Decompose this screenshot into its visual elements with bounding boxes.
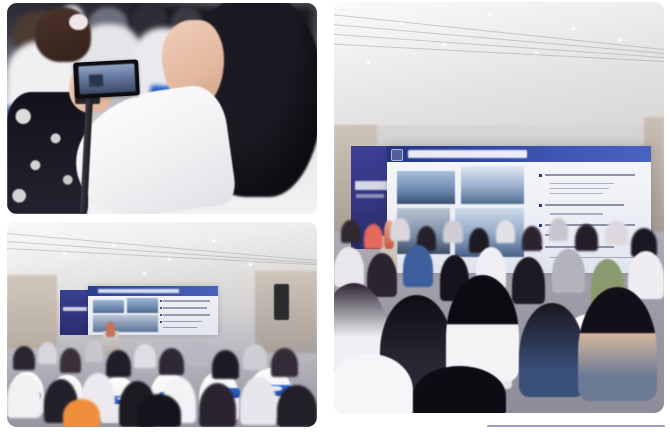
ceiling-downlight (572, 27, 575, 30)
photo-collage (0, 0, 670, 439)
attendee (341, 220, 361, 244)
attendee (240, 377, 277, 425)
hair-scrunchie (69, 14, 88, 31)
attendee (137, 394, 180, 427)
slide-photo (93, 315, 158, 332)
attendee (605, 220, 628, 246)
attendee (496, 220, 516, 244)
hall-wide-scene (7, 222, 317, 427)
photo-hall-wide[interactable] (7, 222, 317, 427)
photo-hall-crowd[interactable] (334, 2, 664, 413)
attendee (390, 218, 410, 242)
slide-bullet-marker (160, 307, 162, 309)
patterned-dress (7, 92, 88, 214)
attendee (522, 226, 542, 252)
slide-bullet-marker (539, 204, 542, 207)
attendee (552, 249, 585, 292)
attendee (403, 245, 433, 286)
ceiling (334, 2, 664, 125)
slide-bullet-marker (160, 314, 162, 316)
attendee (212, 350, 240, 380)
attendee (549, 218, 569, 242)
attendee (134, 344, 156, 368)
attendee (63, 399, 100, 427)
attendee (364, 224, 384, 250)
attendee (60, 348, 82, 374)
slide-photo (461, 166, 524, 204)
slide-bullet-marker (539, 174, 542, 177)
slide-text-line (163, 300, 210, 302)
ceiling-downlight (143, 272, 146, 275)
slide-title-bar (88, 286, 218, 297)
slide-text-line (163, 327, 197, 329)
loudspeaker (274, 284, 290, 321)
ceiling-downlight (63, 252, 66, 255)
ceiling-downlight (367, 61, 370, 64)
slide-text-line (163, 321, 202, 323)
ceiling-downlight (443, 43, 446, 46)
attendee (277, 385, 317, 427)
slide-number-badge (391, 149, 404, 162)
slide-photo (93, 300, 124, 313)
slide-text-line (550, 193, 603, 194)
attendee (519, 303, 585, 398)
slide-photo (397, 171, 455, 204)
stage-banner-headline (355, 181, 389, 190)
ceiling-downlight (249, 263, 252, 266)
attendee (578, 287, 657, 401)
attendee (334, 247, 364, 286)
stage-banner-subline (356, 194, 384, 198)
attendee (187, 342, 209, 366)
photo-audience-closeup[interactable] (7, 3, 317, 214)
slide-text-line (550, 188, 608, 189)
attendee (243, 344, 268, 370)
slide-bullet-marker (160, 300, 162, 302)
ceiling-downlight (618, 39, 621, 42)
attendee (575, 224, 598, 252)
slide-text-line (550, 213, 603, 214)
smartphone-screen (77, 64, 134, 95)
attendee (7, 375, 41, 417)
ceiling-downlight (212, 239, 215, 242)
slide-text-line (550, 183, 613, 184)
attendee (271, 348, 299, 378)
ceiling-downlight (168, 258, 171, 261)
audience-closeup-scene (7, 3, 317, 214)
audience-area (7, 335, 317, 427)
slide-title-bar (387, 146, 651, 163)
attendee (106, 350, 131, 378)
attendee (512, 257, 545, 304)
audience-area (334, 216, 664, 413)
ceiling-downlight (400, 22, 403, 25)
bottom-divider (487, 425, 665, 427)
hall-crowd-scene (334, 2, 664, 413)
smartphone (73, 59, 140, 98)
ceiling-downlight (112, 244, 115, 247)
slide-bullet-marker (160, 321, 162, 323)
attendee (38, 342, 57, 364)
slide-text-line (545, 174, 635, 176)
slide-text-line (163, 314, 210, 316)
stage-side-banner (60, 290, 91, 335)
attendee (159, 348, 184, 376)
attendee (85, 340, 104, 362)
slide-text-line (163, 307, 207, 309)
slide-title-text (408, 150, 527, 159)
slide-text-line (545, 204, 624, 206)
slide-photo (127, 298, 158, 313)
ceiling-downlight (489, 13, 492, 16)
attendee (13, 346, 35, 370)
attendee (443, 220, 463, 244)
